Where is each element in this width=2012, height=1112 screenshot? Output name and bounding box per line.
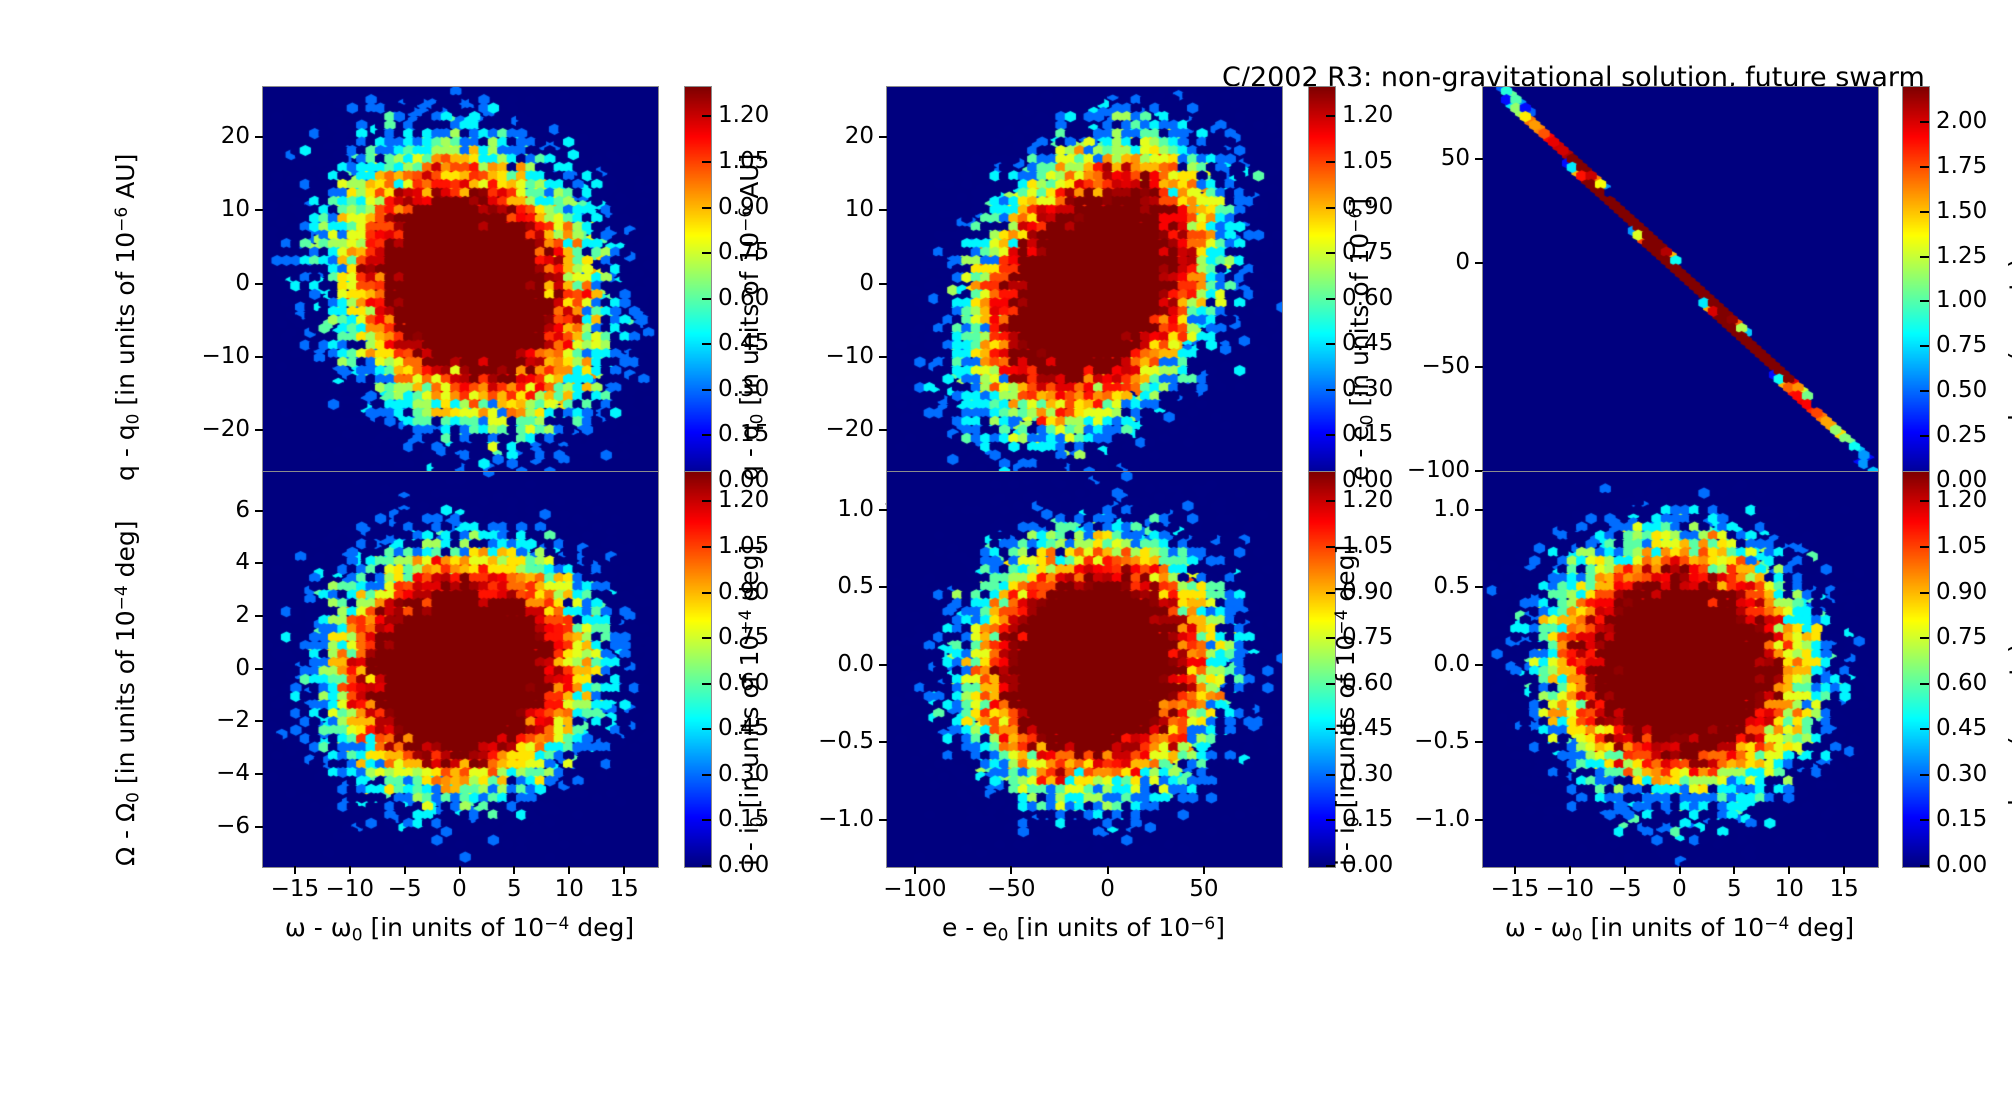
ytick-mark xyxy=(255,209,263,211)
colorbar-tick xyxy=(702,592,711,594)
colorbar-label: 0.25 xyxy=(1936,424,1987,447)
ytick-label: −4 xyxy=(132,762,250,785)
colorbar-tick xyxy=(702,819,711,821)
colorbar-tick xyxy=(1326,298,1335,300)
ytick-label: 2 xyxy=(132,604,250,627)
ytick-mark xyxy=(255,136,263,138)
colorbar-gradient-6 xyxy=(1903,472,1929,867)
colorbar-tick xyxy=(1920,774,1929,776)
colorbar-tick xyxy=(1920,166,1929,168)
ytick-mark xyxy=(879,136,887,138)
colorbar-label: 0.30 xyxy=(1936,763,1987,786)
colorbar-label: 1.00 xyxy=(1936,289,1987,312)
ytick-label: −0.5 xyxy=(1352,730,1470,753)
ytick-label: −2 xyxy=(132,709,250,732)
xtick-mark xyxy=(1788,866,1790,874)
xtick-label: 50 xyxy=(1144,878,1264,901)
ytick-mark xyxy=(1475,366,1483,368)
colorbar-label: 1.20 xyxy=(1342,104,1393,127)
plot-area-3[interactable] xyxy=(1482,86,1879,483)
ytick-label: −10 xyxy=(132,345,250,368)
hexbin-canvas-1 xyxy=(263,87,658,482)
colorbar-title-6: log10(counts) xyxy=(2006,643,2012,806)
ytick-label: −0.5 xyxy=(756,730,874,753)
colorbar-tick xyxy=(1920,592,1929,594)
ytick-mark xyxy=(255,773,263,775)
colorbar-label: 1.20 xyxy=(718,104,769,127)
colorbar-tick xyxy=(1920,683,1929,685)
yaxis-label-1: q - q0 [in units of 10−6 AU] xyxy=(112,154,143,481)
ytick-label: 0 xyxy=(132,272,250,295)
ytick-mark xyxy=(879,356,887,358)
colorbar-tick xyxy=(1920,819,1929,821)
xtick-mark xyxy=(1624,866,1626,874)
colorbar-label: 1.05 xyxy=(1936,535,1987,558)
colorbar-label: 1.20 xyxy=(1936,489,1987,512)
colorbar-label: 1.75 xyxy=(1936,155,1987,178)
xtick-mark xyxy=(349,866,351,874)
colorbar-tick xyxy=(702,343,711,345)
colorbar-tick xyxy=(1326,161,1335,163)
plot-area-6[interactable] xyxy=(1482,471,1879,868)
yaxis-label-4: Ω - Ω0 [in units of 10−4 deg] xyxy=(112,520,143,866)
ytick-label: 0.5 xyxy=(1352,575,1470,598)
ytick-mark xyxy=(255,283,263,285)
colorbar-tick xyxy=(702,434,711,436)
xaxis-label-6: ω - ω0 [in units of 10−4 deg] xyxy=(1392,914,1967,945)
xtick-mark xyxy=(568,866,570,874)
colorbar-label: 0.15 xyxy=(1936,808,1987,831)
colorbar-tick xyxy=(1920,390,1929,392)
colorbar-tick xyxy=(702,161,711,163)
xaxis-label-4: ω - ω0 [in units of 10−4 deg] xyxy=(172,914,747,945)
ytick-mark xyxy=(255,510,263,512)
xtick-mark xyxy=(459,866,461,874)
xtick-mark xyxy=(1733,866,1735,874)
ytick-mark xyxy=(255,356,263,358)
colorbar-tick xyxy=(702,683,711,685)
colorbar-label: 2.00 xyxy=(1936,110,1987,133)
colorbar-tick xyxy=(702,207,711,209)
colorbar-tick xyxy=(702,389,711,391)
colorbar-tick xyxy=(702,500,711,502)
xtick-mark xyxy=(623,866,625,874)
colorbar-tick xyxy=(702,865,711,867)
xtick-label: 15 xyxy=(564,878,684,901)
ytick-label: 0 xyxy=(756,272,874,295)
ytick-mark xyxy=(255,668,263,670)
ytick-mark xyxy=(1475,741,1483,743)
yaxis-label-2: q - q0 [in units of 10−6 AU] xyxy=(736,154,767,481)
ytick-label: 4 xyxy=(132,551,250,574)
colorbar-tick xyxy=(702,774,711,776)
ytick-mark xyxy=(879,819,887,821)
plot-area-1[interactable] xyxy=(262,86,659,483)
colorbar-tick xyxy=(1326,500,1335,502)
plot-area-5[interactable] xyxy=(886,471,1283,868)
ytick-mark xyxy=(879,586,887,588)
hexbin-canvas-2 xyxy=(887,87,1282,482)
colorbar-tick xyxy=(1326,389,1335,391)
colorbar-gradient-3 xyxy=(1903,87,1929,482)
ytick-mark xyxy=(879,509,887,511)
colorbar-tick xyxy=(1920,546,1929,548)
ytick-mark xyxy=(1475,664,1483,666)
ytick-mark xyxy=(1475,819,1483,821)
colorbar-tick xyxy=(1920,256,1929,258)
xtick-mark xyxy=(1569,866,1571,874)
colorbar-tick xyxy=(1920,728,1929,730)
ytick-label: 6 xyxy=(132,499,250,522)
ytick-label: 0 xyxy=(132,657,250,680)
ytick-label: 10 xyxy=(132,198,250,221)
colorbar-tick xyxy=(702,115,711,117)
plot-area-4[interactable] xyxy=(262,471,659,868)
ytick-label: −1.0 xyxy=(756,808,874,831)
yaxis-label-6: i - i0 [in units of 10−4 deg] xyxy=(1332,545,1363,866)
colorbar-label: 0.75 xyxy=(1936,334,1987,357)
xtick-mark xyxy=(1203,866,1205,874)
ytick-mark xyxy=(1475,158,1483,160)
hexbin-canvas-5 xyxy=(887,472,1282,867)
ytick-label: 20 xyxy=(132,125,250,148)
xtick-mark xyxy=(1843,866,1845,874)
ytick-mark xyxy=(879,209,887,211)
colorbar-tick xyxy=(1326,115,1335,117)
yaxis-label-5: i - i0 [in units of 10−4 deg] xyxy=(736,545,767,866)
ytick-mark xyxy=(255,720,263,722)
colorbar-tick xyxy=(1920,500,1929,502)
ytick-label: 20 xyxy=(756,125,874,148)
ytick-label: −1.0 xyxy=(1352,808,1470,831)
xtick-mark xyxy=(404,866,406,874)
ytick-label: −10 xyxy=(756,345,874,368)
colorbar-tick xyxy=(1920,435,1929,437)
colorbar-title-3: log10(counts) xyxy=(2006,258,2012,421)
plot-area-2[interactable] xyxy=(886,86,1283,483)
ytick-mark xyxy=(255,429,263,431)
hexbin-canvas-6 xyxy=(1483,472,1878,867)
ytick-label: 0.5 xyxy=(756,575,874,598)
ytick-mark xyxy=(879,741,887,743)
ytick-mark xyxy=(255,615,263,617)
colorbar-tick xyxy=(702,252,711,254)
ytick-mark xyxy=(879,429,887,431)
ytick-label: −6 xyxy=(132,815,250,838)
xaxis-label-5: e - e0 [in units of 10−6] xyxy=(796,914,1371,945)
xtick-mark xyxy=(1010,866,1012,874)
colorbar-tick xyxy=(1326,207,1335,209)
colorbar-tick xyxy=(1920,345,1929,347)
colorbar-gradient-1 xyxy=(685,87,711,482)
colorbar-tick xyxy=(1920,300,1929,302)
colorbar-tick xyxy=(1920,211,1929,213)
colorbar-tick xyxy=(702,728,711,730)
xtick-mark xyxy=(513,866,515,874)
xtick-mark xyxy=(1679,866,1681,874)
ytick-mark xyxy=(1475,586,1483,588)
yaxis-label-3: e - e0 [in units of 10−6] xyxy=(1346,198,1377,481)
ytick-mark xyxy=(1475,509,1483,511)
colorbar-tick xyxy=(1920,637,1929,639)
ytick-label: 50 xyxy=(1352,147,1470,170)
colorbar-label: 1.25 xyxy=(1936,245,1987,268)
xtick-mark xyxy=(1107,866,1109,874)
ytick-label: 1.0 xyxy=(756,498,874,521)
ytick-label: 10 xyxy=(756,198,874,221)
ytick-label: −20 xyxy=(132,418,250,441)
xtick-mark xyxy=(1514,866,1516,874)
xtick-label: 15 xyxy=(1784,878,1904,901)
colorbar-1 xyxy=(684,86,712,483)
colorbar-gradient-4 xyxy=(685,472,711,867)
ytick-mark xyxy=(879,664,887,666)
colorbar-gradient-2 xyxy=(1309,87,1335,482)
colorbar-label: 0.45 xyxy=(1936,717,1987,740)
colorbar-label: 0.90 xyxy=(1936,581,1987,604)
hexbin-canvas-3 xyxy=(1483,87,1878,482)
ytick-mark xyxy=(255,562,263,564)
ytick-label: 0.0 xyxy=(756,653,874,676)
colorbar-label: 0.00 xyxy=(1936,854,1987,877)
xtick-mark xyxy=(914,866,916,874)
ytick-mark xyxy=(255,826,263,828)
colorbar-tick xyxy=(1920,121,1929,123)
colorbar-4 xyxy=(684,471,712,868)
ytick-mark xyxy=(879,283,887,285)
colorbar-label: 0.50 xyxy=(1936,379,1987,402)
figure-canvas: C/2002 R3: non-gravitational solution, f… xyxy=(0,0,2012,1112)
ytick-label: 0.0 xyxy=(1352,653,1470,676)
colorbar-tick xyxy=(1326,343,1335,345)
colorbar-6 xyxy=(1902,471,1930,868)
colorbar-label: 1.50 xyxy=(1936,200,1987,223)
colorbar-tick xyxy=(1326,252,1335,254)
xtick-mark xyxy=(294,866,296,874)
colorbar-tick xyxy=(1920,865,1929,867)
ytick-label: 1.0 xyxy=(1352,498,1470,521)
hexbin-canvas-4 xyxy=(263,472,658,867)
ytick-mark xyxy=(1475,262,1483,264)
colorbar-tick xyxy=(702,298,711,300)
ytick-label: −20 xyxy=(756,418,874,441)
colorbar-label: 0.60 xyxy=(1936,672,1987,695)
colorbar-label: 0.75 xyxy=(1936,626,1987,649)
colorbar-tick xyxy=(702,637,711,639)
colorbar-tick xyxy=(702,546,711,548)
colorbar-3 xyxy=(1902,86,1930,483)
colorbar-tick xyxy=(1326,434,1335,436)
colorbar-2 xyxy=(1308,86,1336,483)
